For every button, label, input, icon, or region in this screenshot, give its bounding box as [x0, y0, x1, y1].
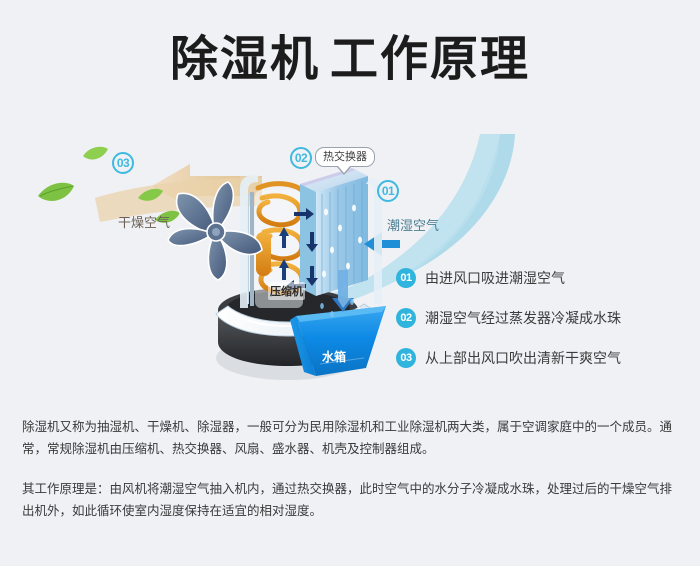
legend-item-02: 02 潮湿空气经过蒸发器冷凝成水珠: [396, 298, 696, 338]
page-title-part1: 除湿机: [170, 33, 320, 86]
body-copy: 除湿机又称为抽湿机、干燥机、除湿器，一般可分为民用除湿机和工业除湿机两大类，属于…: [22, 416, 682, 522]
legend-badge-01: 01: [396, 268, 416, 288]
legend-item-01: 01 由进风口吸进潮湿空气: [396, 258, 696, 298]
marker-03: 03: [112, 152, 134, 174]
marker-01: 01: [377, 180, 399, 202]
label-compressor: 压缩机: [268, 282, 305, 300]
legend-list: 01 由进风口吸进潮湿空气 02 潮湿空气经过蒸发器冷凝成水珠 03 从上部出风…: [396, 258, 696, 378]
water-tank: [290, 306, 386, 376]
label-water-tank: 水箱: [322, 348, 346, 365]
page-title: 除湿机工作原理: [0, 34, 700, 87]
label-dry-air: 干燥空气: [118, 212, 170, 231]
legend-badge-02: 02: [396, 308, 416, 328]
legend-text-02: 潮湿空气经过蒸发器冷凝成水珠: [425, 308, 621, 328]
legend-text-03: 从上部出风口吹出清新干爽空气: [425, 348, 621, 368]
callout-heat-exchanger: 热交换器: [315, 147, 375, 167]
label-humid-air: 潮湿空气: [387, 215, 439, 234]
paragraph-definition: 除湿机又称为抽湿机、干燥机、除湿器，一般可分为民用除湿机和工业除湿机两大类，属于…: [22, 416, 682, 460]
legend-item-03: 03 从上部出风口吹出清新干爽空气: [396, 338, 696, 378]
page-root: 除湿机工作原理: [0, 0, 700, 566]
marker-02: 02: [290, 147, 312, 169]
legend-badge-03: 03: [396, 348, 416, 368]
page-title-part2: 工作原理: [330, 33, 530, 86]
paragraph-principle: 其工作原理是：由风机将潮湿空气抽入机内，通过热交换器，此时空气中的水分子冷凝成水…: [22, 478, 682, 522]
legend-text-01: 由进风口吸进潮湿空气: [425, 268, 565, 288]
